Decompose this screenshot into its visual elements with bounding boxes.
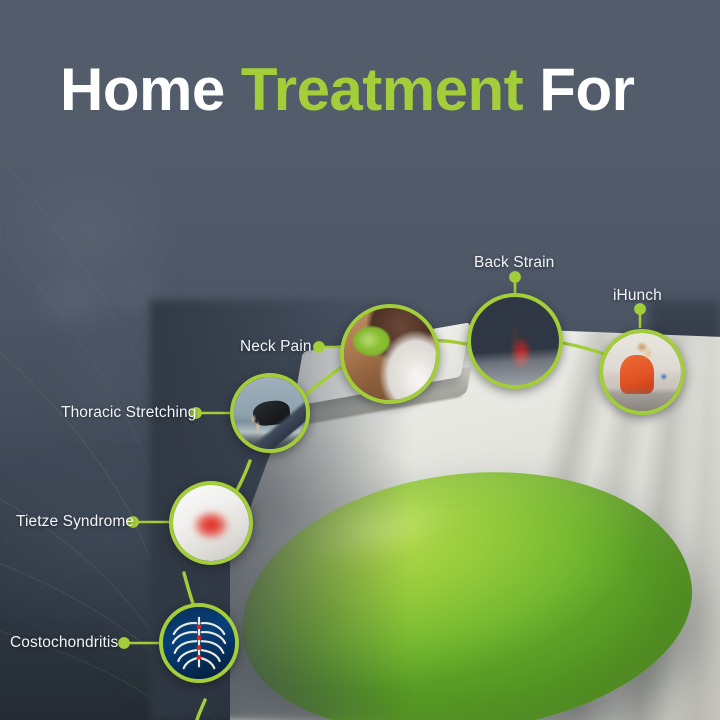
leader-dot-back-strain xyxy=(510,272,519,281)
tietze-syndrome-photo xyxy=(173,485,249,561)
rib-cage-xray-icon xyxy=(163,607,235,679)
callout-bubble-neck-pain[interactable] xyxy=(340,304,440,404)
callout-bubble-back-strain[interactable] xyxy=(467,293,563,389)
callout-label-tietze-syndrome: Tietze Syndrome xyxy=(16,513,134,531)
link-costo-tail xyxy=(197,700,205,720)
background-ghost-face xyxy=(0,150,270,480)
neck-pain-photo xyxy=(344,308,436,400)
back-strain-photo xyxy=(471,297,559,385)
title-part-1: Home xyxy=(60,56,241,123)
ball-highlight xyxy=(276,469,518,595)
callout-bubble-ihunch[interactable] xyxy=(599,329,685,415)
callout-label-costochondritis: Costochondritis xyxy=(10,634,118,652)
title-part-2: For xyxy=(523,56,634,123)
page-title: Home Treatment For xyxy=(60,58,634,121)
poster-canvas: Home Treatment For xyxy=(0,0,720,720)
callout-bubble-costochondritis[interactable] xyxy=(159,603,239,683)
ball-drop-shadow xyxy=(250,672,670,720)
green-massage-ball xyxy=(226,447,706,720)
callout-bubble-thoracic-stretching[interactable] xyxy=(230,373,310,453)
callout-label-back-strain: Back Strain xyxy=(474,254,554,272)
ihunch-photo xyxy=(603,333,681,411)
leader-dot-ihunch xyxy=(635,304,644,313)
leader-dot-neck-pain xyxy=(314,342,323,351)
title-accent-word: Treatment xyxy=(241,56,523,123)
callout-label-ihunch: iHunch xyxy=(613,287,662,305)
callout-label-neck-pain: Neck Pain xyxy=(240,338,312,356)
leader-dot-costochondritis xyxy=(119,638,128,647)
callout-label-thoracic-stretching: Thoracic Stretching xyxy=(61,404,196,422)
link-neck-to-thoracic xyxy=(303,368,340,398)
callout-bubble-tietze-syndrome[interactable] xyxy=(169,481,253,565)
thoracic-stretching-photo xyxy=(234,377,306,449)
